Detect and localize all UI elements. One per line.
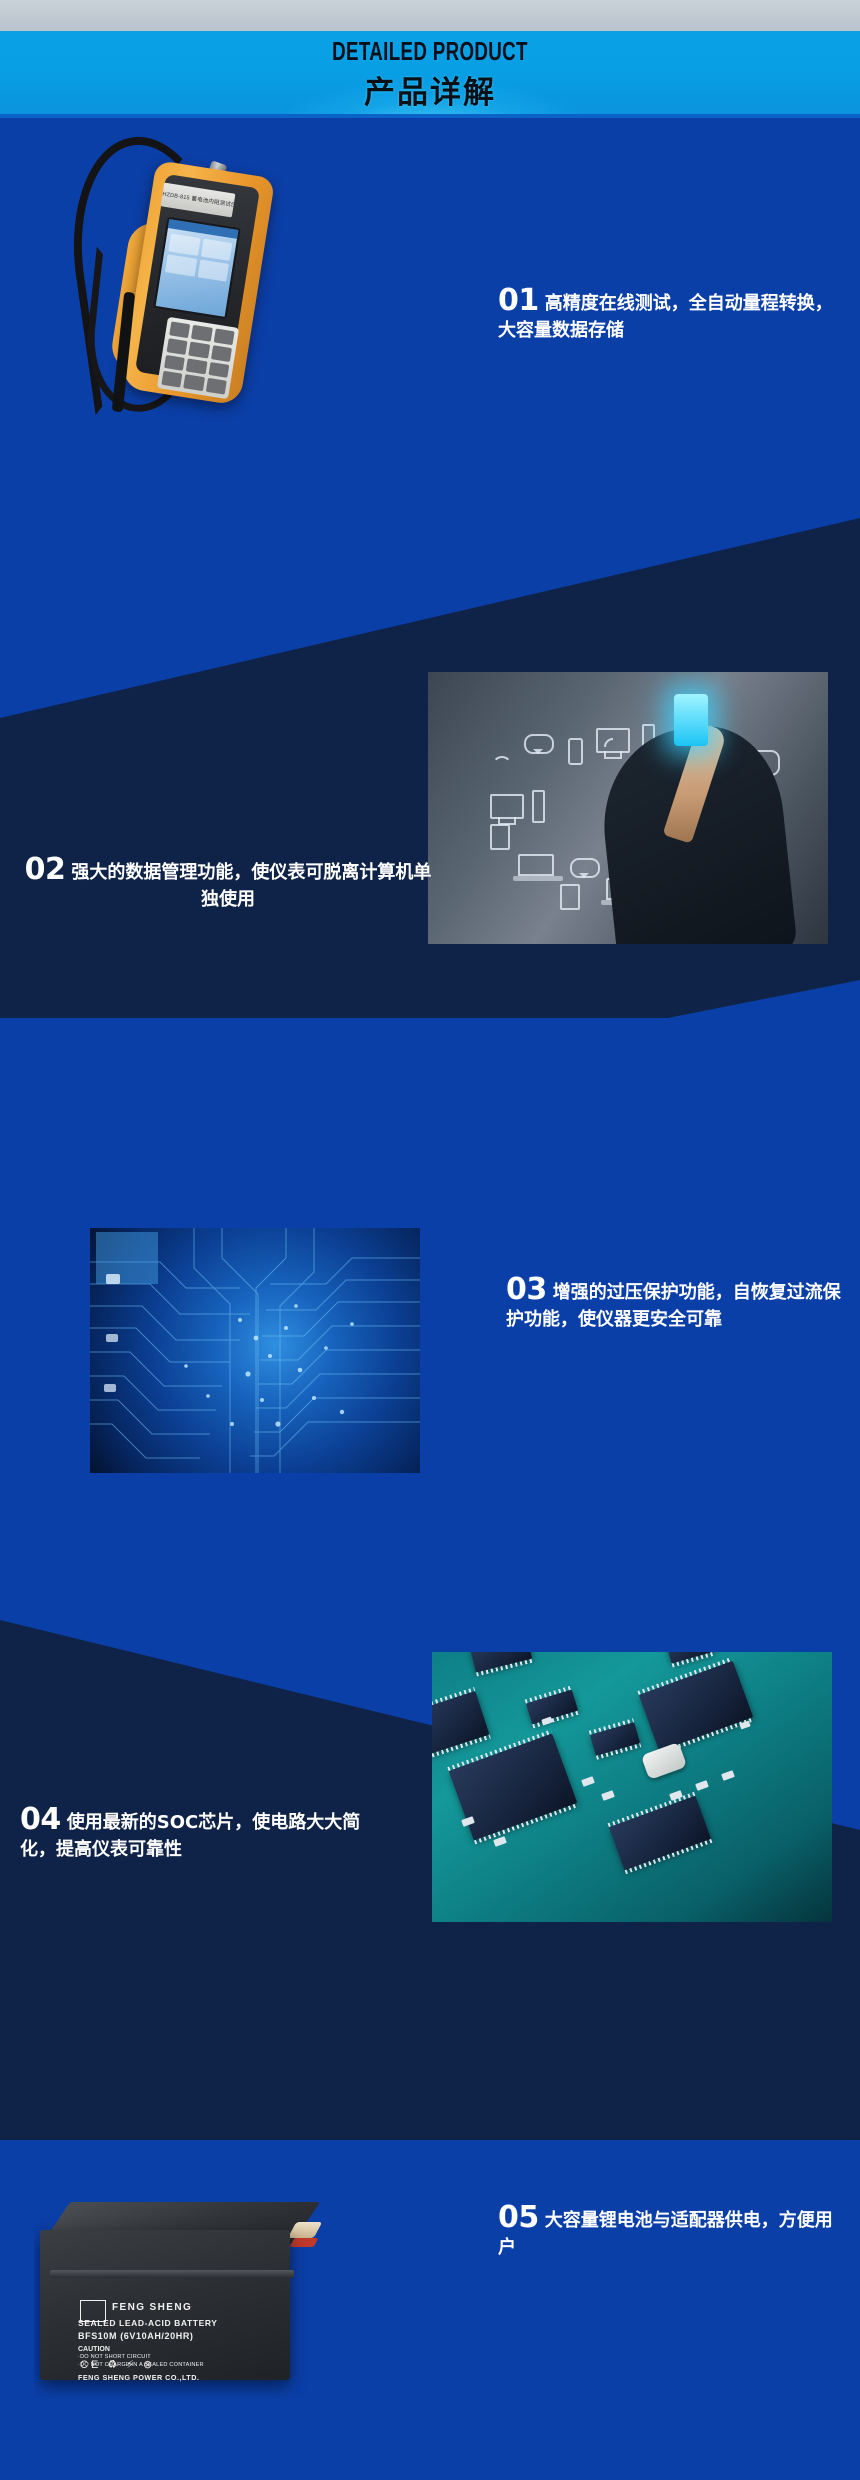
tower-pc-icon bbox=[532, 790, 545, 823]
ic-chip-small bbox=[470, 1652, 533, 1673]
photo-digital-touch-interface bbox=[428, 672, 828, 944]
photo-blue-circuit-board bbox=[90, 1228, 420, 1473]
phone-icon bbox=[568, 738, 583, 765]
broadcast-icon bbox=[492, 756, 512, 776]
section-header-banner: DETAILED PRODUCT 产品详解 bbox=[0, 31, 860, 118]
feature-block-02: 02强大的数据管理功能，使仪表可脱离计算机单独使用 bbox=[18, 852, 438, 912]
photo-handheld-tester: HZDB-815 蓄电池内阻测试仪 bbox=[58, 122, 348, 432]
smd-resistor bbox=[695, 1780, 709, 1791]
top-gray-strip bbox=[0, 0, 860, 31]
banner-title-en: DETAILED PRODUCT bbox=[120, 36, 739, 67]
tester-screen-icon bbox=[197, 259, 229, 281]
battery-certification-marks: CE ♻ ⚡ ⊗ bbox=[80, 2358, 155, 2371]
ic-chip-large bbox=[639, 1661, 753, 1752]
feature-number-05: 05 bbox=[498, 2200, 539, 2235]
tester-screen-icon bbox=[165, 254, 197, 276]
feature-text-05: 大容量锂电池与适配器供电，方便用户 bbox=[498, 2210, 833, 2258]
feature-block-03: 03增强的过压保护功能，自恢复过流保护功能，使仪器更安全可靠 bbox=[506, 1272, 846, 1332]
laptop-icon bbox=[518, 854, 554, 876]
smd-resistor bbox=[721, 1770, 735, 1781]
feature-number-01: 01 bbox=[498, 283, 539, 318]
banner-underline bbox=[0, 114, 860, 118]
battery-caution-title: CAUTION bbox=[78, 2346, 288, 2353]
smd-resistor bbox=[601, 1790, 615, 1801]
ic-chip bbox=[609, 1796, 711, 1871]
feature-text-02: 强大的数据管理功能，使仪表可脱离计算机单独使用 bbox=[71, 862, 431, 910]
tester-screen-icon bbox=[200, 239, 232, 261]
feature-text-03: 增强的过压保护功能，自恢复过流保护功能，使仪器更安全可靠 bbox=[506, 1282, 841, 1330]
server-stack-icon bbox=[560, 884, 580, 910]
circuit-traces bbox=[90, 1228, 420, 1473]
feature-block-04: 04使用最新的SOC芯片，使电路大大简化，提高仪表可靠性 bbox=[20, 1802, 380, 1862]
smd-resistor bbox=[581, 1776, 595, 1787]
chat-bubble-icon bbox=[524, 734, 554, 754]
feature-number-02: 02 bbox=[25, 852, 66, 887]
feature-number-04: 04 bbox=[20, 1802, 61, 1837]
ic-chip-small bbox=[590, 1722, 640, 1756]
feature-block-05: 05大容量锂电池与适配器供电，方便用户 bbox=[498, 2200, 838, 2260]
feature-text-01: 高精度在线测试，全自动量程转换，大容量数据存储 bbox=[498, 293, 833, 341]
chat-bubble-icon bbox=[570, 858, 600, 878]
diagonal-wedge-blue-upper bbox=[0, 980, 860, 1240]
battery-brand-text: FENG SHENG bbox=[112, 2302, 288, 2313]
ic-chip bbox=[432, 1691, 489, 1755]
battery-negative-terminal bbox=[290, 2238, 319, 2247]
monitor-icon bbox=[490, 794, 524, 819]
battery-ridge bbox=[50, 2270, 294, 2278]
feature-number-03: 03 bbox=[506, 1272, 547, 1307]
tester-keypad bbox=[157, 317, 239, 399]
battery-front-face: FENG SHENG SEALED LEAD-ACID BATTERY BFS1… bbox=[40, 2230, 290, 2380]
banner-title-cn: 产品详解 bbox=[0, 67, 860, 112]
ic-chip-small bbox=[666, 1652, 714, 1664]
feature-block-01: 01高精度在线测试，全自动量程转换，大容量数据存储 bbox=[498, 283, 848, 343]
battery-company-text: FENG SHENG POWER CO.,LTD. bbox=[78, 2373, 288, 2382]
tester-screen bbox=[153, 217, 240, 319]
photo-lead-acid-battery: FENG SHENG SEALED LEAD-ACID BATTERY BFS1… bbox=[34, 2198, 324, 2398]
tester-screen-icon bbox=[168, 234, 200, 256]
product-detail-page: DETAILED PRODUCT 产品详解 HZDB-815 蓄电池内阻测试仪 bbox=[0, 0, 860, 2480]
document-icon bbox=[490, 824, 510, 850]
crystal-oscillator bbox=[641, 1742, 687, 1780]
feature-text-04: 使用最新的SOC芯片，使电路大大简化，提高仪表可靠性 bbox=[20, 1812, 360, 1860]
photo-green-pcb-chips bbox=[432, 1652, 832, 1922]
smd-resistor bbox=[493, 1836, 507, 1847]
battery-model-text: BFS10M (6V10AH/20HR) bbox=[78, 2331, 288, 2341]
battery-type-text: SEALED LEAD-ACID BATTERY bbox=[78, 2318, 288, 2328]
touch-glow-highlight bbox=[674, 694, 708, 746]
